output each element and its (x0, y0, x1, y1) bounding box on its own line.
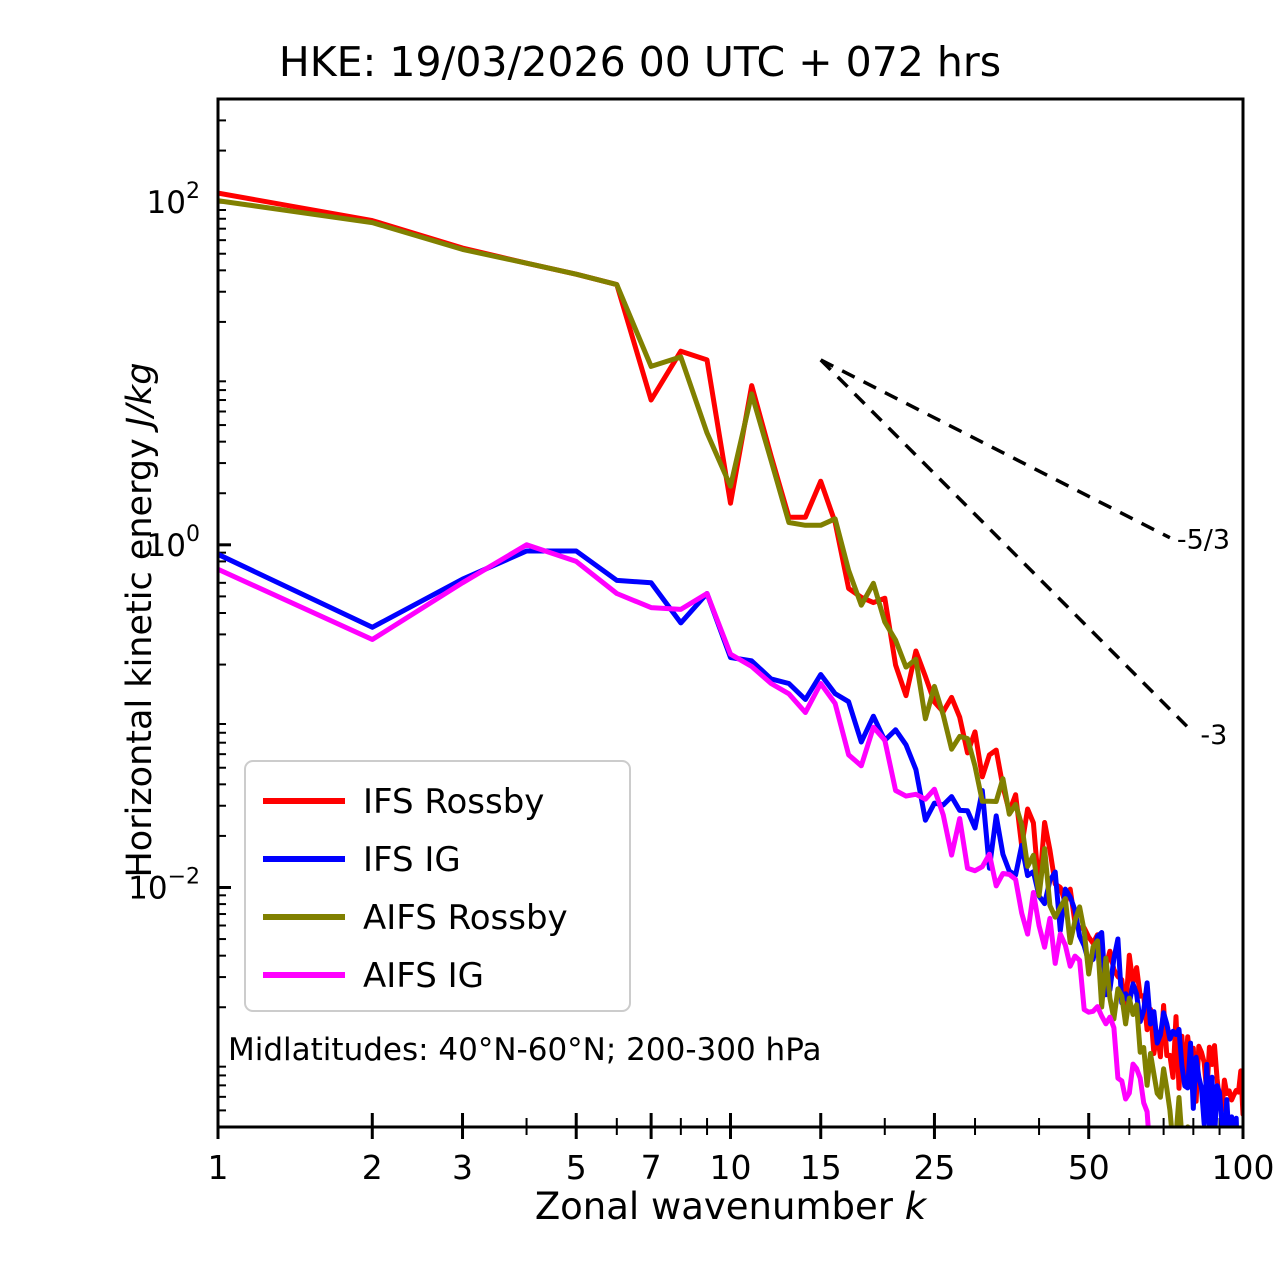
y-tick-label: 100 (147, 522, 200, 564)
x-tick-label: 100 (1212, 1148, 1275, 1187)
x-tick-label: 1 (208, 1148, 229, 1187)
y-tick-label: 10−2 (128, 864, 200, 906)
x-tick-label: 10 (710, 1148, 752, 1187)
legend-label-aifs-rossby: AIFS Rossby (363, 898, 568, 938)
x-tick-label: 3 (452, 1148, 473, 1187)
slope-label-53: -5/3 (1177, 525, 1230, 556)
x-tick-label: 15 (800, 1148, 842, 1187)
y-axis-ticks: 10210010−2 (128, 99, 231, 1127)
legend-label-ifs-rossby: IFS Rossby (363, 782, 544, 822)
region-annotation: Midlatitudes: 40°N-60°N; 200-300 hPa (228, 1032, 822, 1068)
y-tick-label: 102 (147, 179, 200, 221)
x-tick-label: 2 (362, 1148, 383, 1187)
x-tick-label: 5 (566, 1148, 587, 1187)
spectrum-plot: 10210010−2 1235710152550100 -5/3-3 IFS R… (0, 0, 1280, 1288)
legend-label-aifs-ig: AIFS IG (363, 956, 484, 996)
legend-label-ifs-ig: IFS IG (363, 840, 461, 880)
x-tick-label: 7 (641, 1148, 662, 1187)
legend: IFS RossbyIFS IGAIFS RossbyAIFS IG (245, 761, 630, 1011)
x-tick-label: 25 (913, 1148, 955, 1187)
x-tick-label: 50 (1068, 1148, 1110, 1187)
chart-page: HKE: 19/03/2026 00 UTC + 072 hrs Horizon… (0, 0, 1280, 1288)
slope-label-3: -3 (1200, 720, 1227, 751)
